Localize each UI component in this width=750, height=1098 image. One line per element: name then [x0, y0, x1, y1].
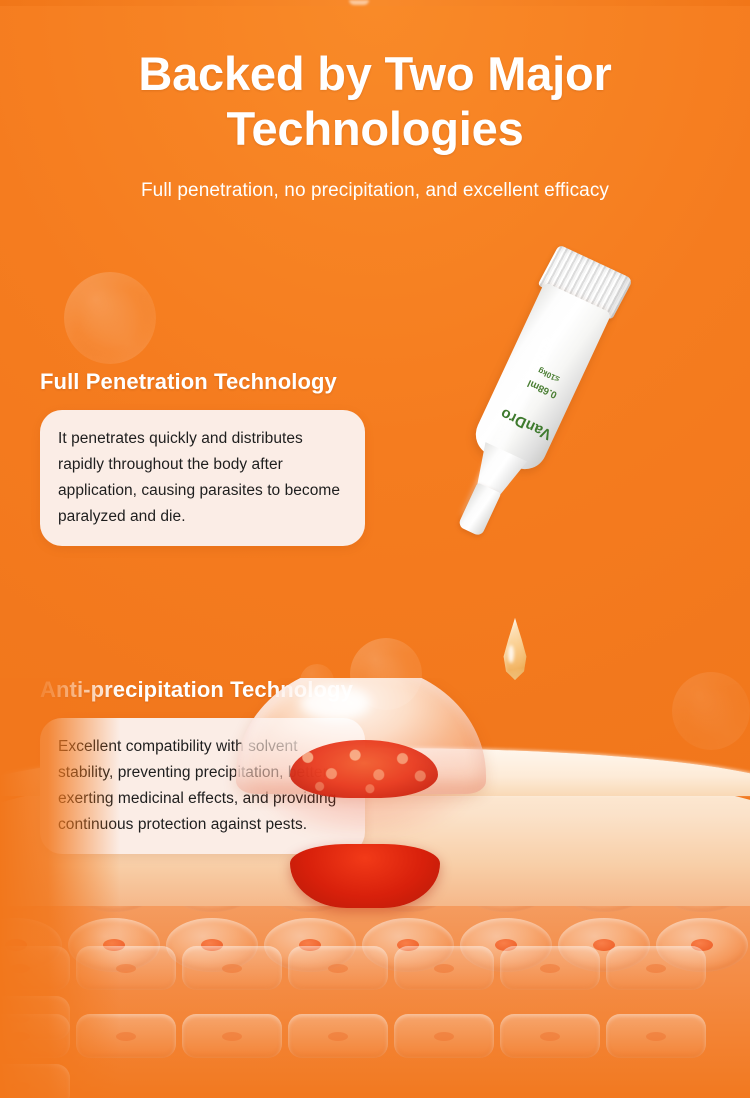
tube-brand-label: VanDro	[487, 400, 565, 448]
skin-cell	[394, 946, 494, 990]
skin-cell	[264, 858, 356, 912]
skin-cell	[0, 918, 62, 972]
tube-crimp-seal	[537, 245, 633, 320]
skin-cell	[288, 1014, 388, 1058]
skin-cell	[166, 858, 258, 912]
tube-weight-label: ≤10kg	[513, 355, 584, 394]
skin-cell	[76, 1014, 176, 1058]
skin-cell	[68, 858, 160, 912]
skin-cell	[656, 918, 748, 972]
skin-cell	[0, 1064, 70, 1098]
skin-cell	[500, 946, 600, 990]
skin-cell	[460, 918, 552, 972]
skin-cell	[182, 946, 282, 990]
bubble-decoration-icon	[64, 272, 156, 364]
skin-cell	[460, 858, 552, 912]
section-heading: Full Penetration Technology	[40, 368, 365, 396]
tube-volume-label: 0.68ml	[507, 368, 579, 409]
section-body-text: Excellent compatibility with solvent sta…	[58, 734, 347, 838]
cell-row-middle	[0, 946, 750, 1040]
dermis-layer	[0, 828, 750, 1098]
skin-cell	[500, 1014, 600, 1058]
page-header: Backed by Two Major Technologies Full pe…	[0, 0, 750, 204]
section-body-text: It penetrates quickly and distributes ra…	[58, 426, 347, 530]
droplet-highlight	[508, 645, 514, 663]
skin-cell	[558, 858, 650, 912]
page-subtitle: Full penetration, no precipitation, and …	[0, 178, 750, 204]
tube-shoulder	[467, 442, 527, 501]
skin-cell	[68, 918, 160, 972]
bubble-decoration-icon	[672, 672, 750, 750]
skin-cell	[606, 946, 706, 990]
skin-cell	[362, 918, 454, 972]
section-card: It penetrates quickly and distributes ra…	[40, 410, 365, 546]
skin-cell	[264, 918, 356, 972]
skin-cell	[76, 946, 176, 990]
section-card: Excellent compatibility with solvent sta…	[40, 718, 365, 854]
skin-cell	[166, 918, 258, 972]
skin-cell	[558, 918, 650, 972]
section-anti-precipitation: Anti-precipitation Technology Excellent …	[40, 676, 365, 854]
skin-cell	[182, 1014, 282, 1058]
tube-graphic: ≤10kg 0.68ml VanDro	[424, 241, 629, 549]
skin-cell	[0, 1014, 70, 1058]
section-full-penetration: Full Penetration Technology It penetrate…	[40, 368, 365, 546]
promo-page: Backed by Two Major Technologies Full pe…	[0, 0, 750, 1098]
tube-gloss-highlight	[460, 335, 555, 521]
section-heading: Anti-precipitation Technology	[40, 676, 365, 704]
cell-row-lower	[0, 1014, 750, 1098]
tube-body: ≤10kg 0.68ml VanDro	[469, 282, 612, 476]
liquid-droplet-icon	[500, 618, 530, 680]
skin-cell	[288, 946, 388, 990]
skin-cell	[0, 946, 70, 990]
skin-cell	[394, 1014, 494, 1058]
skin-cell	[606, 1014, 706, 1058]
tube-nozzle	[457, 482, 501, 536]
skin-cell	[362, 858, 454, 912]
cell-row-upper	[0, 858, 750, 972]
skin-cell	[0, 996, 70, 1040]
page-title: Backed by Two Major Technologies	[0, 46, 750, 156]
skin-cell	[0, 858, 62, 912]
skin-cell	[656, 858, 748, 912]
product-tube-image: ≤10kg 0.68ml VanDro	[472, 246, 712, 576]
